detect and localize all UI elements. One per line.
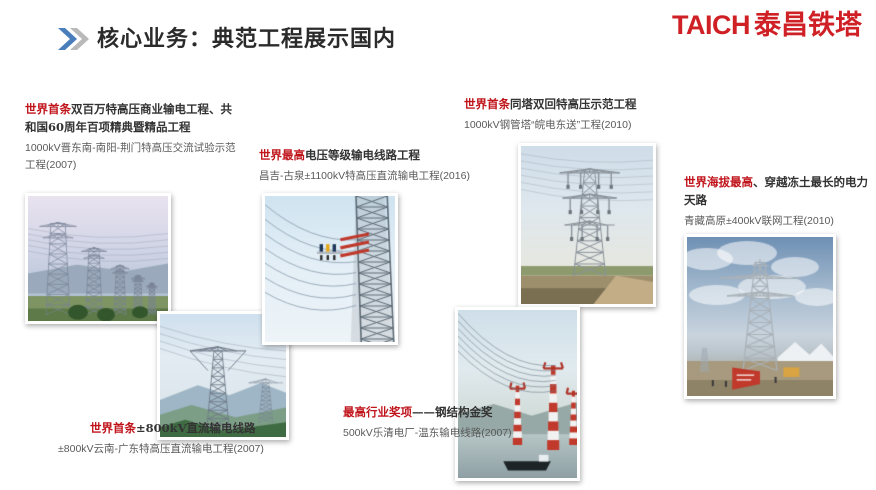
caption-subtitle: 1000kV晋东南-南阳-荆门特高压交流试验示范工程(2007) bbox=[25, 140, 237, 176]
caption-headline-red: 最高行业奖项 bbox=[343, 405, 412, 419]
caption-headline-rest: 电压等级输电线路工程 bbox=[305, 148, 420, 162]
photo-uhv-ac-demo-1000kv bbox=[25, 193, 171, 324]
page-title-text: 核心业务：典范工程展示国内 bbox=[97, 28, 396, 50]
caption-headline-rest: 同塔双回特高压示范工程 bbox=[510, 97, 637, 111]
slide-root: 核心业务：典范工程展示国内 TAICH 泰昌铁塔 世界首条双百万特高压商业输电工… bbox=[0, 0, 876, 490]
caption-subtitle: 昌吉-古泉±1100kV特高压直流输电工程(2016) bbox=[259, 168, 509, 186]
slide-header: 核心业务：典范工程展示国内 TAICH 泰昌铁塔 bbox=[0, 0, 876, 72]
photo-double-circuit-uhv-demo bbox=[518, 143, 656, 307]
caption-headline: 世界首条双百万特高压商业输电工程、共和国60周年百项精典暨精品工程 bbox=[25, 101, 237, 137]
brand-logo-latin: TAICH bbox=[672, 12, 750, 39]
page-title: 核心业务：典范工程展示国内 bbox=[57, 26, 396, 52]
caption-subtitle: 1000kV钢管塔“皖电东送”工程(2010) bbox=[464, 117, 724, 135]
caption-headline-rest: ——钢结构金奖 bbox=[412, 405, 493, 419]
photo-steel-structure-gold-award bbox=[455, 307, 580, 481]
caption-highest-altitude-line: 世界海拔最高、穿越冻土最长的电力天路 青藏高原±400kV联网工程(2010) bbox=[684, 174, 874, 230]
caption-headline: 世界海拔最高、穿越冻土最长的电力天路 bbox=[684, 174, 874, 210]
caption-headline-red: 世界首条 bbox=[90, 421, 136, 435]
caption-headline-red: 世界最高 bbox=[259, 148, 305, 162]
caption-double-circuit-uhv-demo: 世界首条同塔双回特高压示范工程 1000kV钢管塔“皖电东送”工程(2010) bbox=[464, 96, 724, 135]
caption-subtitle: ±800kV云南-广东特高压直流输电工程(2007) bbox=[58, 441, 308, 459]
caption-dc-800kv-line: 世界首条±800kV直流输电线路 ±800kV云南-广东特高压直流输电工程(20… bbox=[58, 420, 308, 459]
caption-headline: 世界首条±800kV直流输电线路 bbox=[58, 420, 308, 438]
brand-logo-chinese: 泰昌铁塔 bbox=[754, 12, 862, 39]
caption-subtitle: 500kV乐清电厂-温东输电线路(2007) bbox=[343, 425, 571, 443]
caption-headline: 世界最高电压等级输电线路工程 bbox=[259, 147, 509, 165]
caption-headline-red: 世界首条 bbox=[464, 97, 510, 111]
caption-headline-red: 世界首条 bbox=[25, 102, 71, 116]
photo-highest-altitude-line bbox=[684, 234, 836, 399]
caption-headline: 最高行业奖项——钢结构金奖 bbox=[343, 404, 571, 422]
brand-logo: TAICH 泰昌铁塔 bbox=[672, 10, 862, 40]
caption-headline: 世界首条同塔双回特高压示范工程 bbox=[464, 96, 724, 114]
caption-highest-voltage-line: 世界最高电压等级输电线路工程 昌吉-古泉±1100kV特高压直流输电工程(201… bbox=[259, 147, 509, 186]
caption-subtitle: 青藏高原±400kV联网工程(2010) bbox=[684, 213, 874, 231]
caption-steel-structure-gold-award: 最高行业奖项——钢结构金奖 500kV乐清电厂-温东输电线路(2007) bbox=[343, 404, 571, 443]
caption-uhv-ac-demo-1000kv: 世界首条双百万特高压商业输电工程、共和国60周年百项精典暨精品工程 1000kV… bbox=[25, 101, 237, 175]
double-chevron-right-icon bbox=[57, 26, 91, 52]
photo-highest-voltage-line bbox=[262, 193, 398, 345]
caption-headline-red: 世界海拔最高 bbox=[684, 175, 753, 189]
caption-headline-rest: ±800kV直流输电线路 bbox=[136, 421, 256, 435]
